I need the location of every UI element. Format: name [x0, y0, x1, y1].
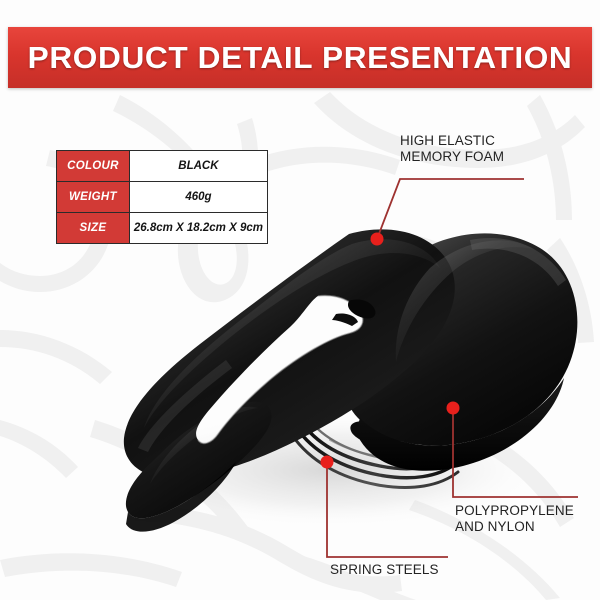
callout-dot-foam	[371, 233, 384, 246]
leader-line-poly	[453, 408, 578, 497]
callout-label-high-elastic-memory-foam: HIGH ELASTIC MEMORY FOAM	[400, 133, 504, 166]
callout-dot-spring	[321, 456, 334, 469]
leader-line-foam	[377, 179, 524, 239]
callout-dot-poly	[447, 402, 460, 415]
callout-label-polypropylene-and-nylon: POLYPROPYLENE AND NYLON	[455, 503, 574, 536]
leader-line-spring	[327, 462, 448, 557]
product-detail-presentation-page: PRODUCT DETAIL PRESENTATION COLOUR BLACK…	[0, 0, 600, 600]
callout-label-spring-steels: SPRING STEELS	[330, 562, 439, 578]
